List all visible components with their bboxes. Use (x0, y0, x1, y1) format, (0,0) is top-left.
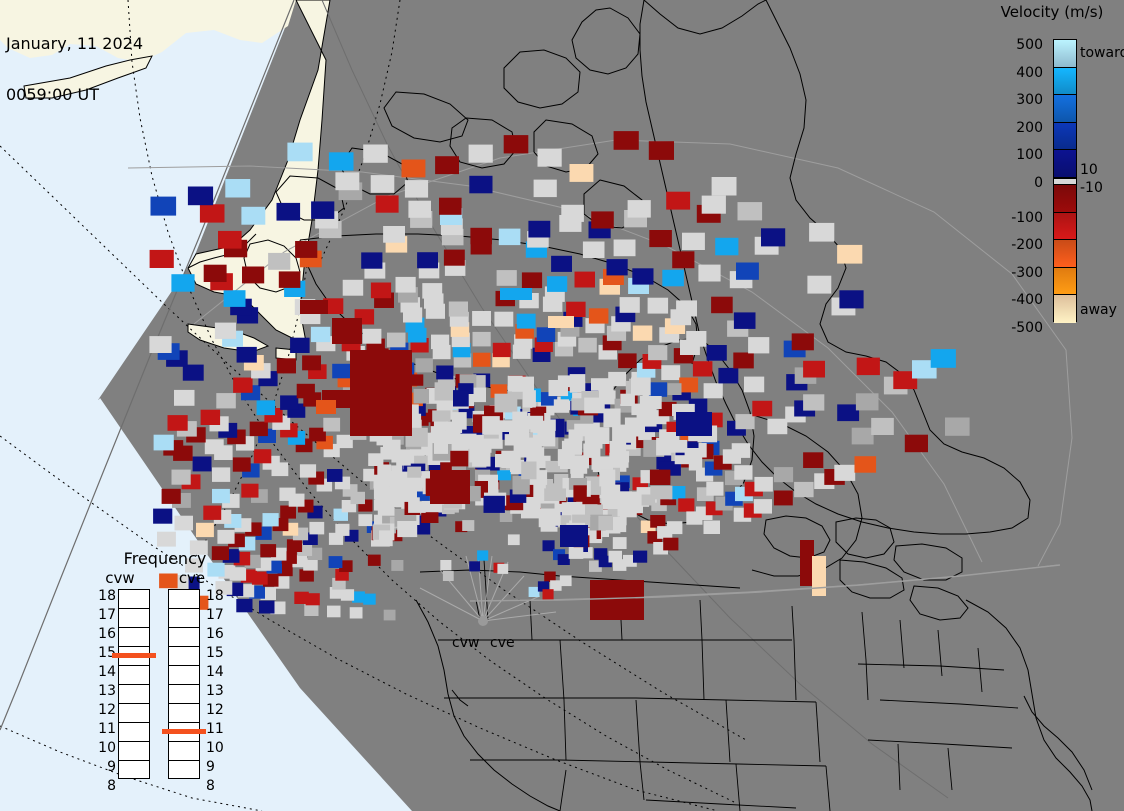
radar-cell[interactable] (504, 135, 529, 153)
frequency-tick-cve-9: 9 (206, 760, 215, 774)
radar-cell[interactable] (233, 378, 253, 393)
colorbar-band-5 (1054, 178, 1076, 185)
radar-cell[interactable] (543, 589, 554, 599)
radar-cell[interactable] (443, 571, 454, 581)
radar-cell[interactable] (323, 418, 340, 432)
radar-cell[interactable] (439, 198, 462, 215)
radar-cell[interactable] (734, 465, 752, 480)
radar-cell[interactable] (384, 610, 396, 621)
radar-cell[interactable] (526, 416, 543, 429)
colorbar-band-10 (1054, 295, 1076, 323)
radar-cell[interactable] (299, 569, 314, 581)
radar-cell[interactable] (837, 404, 859, 421)
radar-cell[interactable] (599, 470, 615, 487)
radar-cell[interactable] (614, 131, 639, 150)
radar-cell[interactable] (650, 470, 671, 485)
radar-cell[interactable] (363, 329, 382, 344)
radar-cell[interactable] (304, 604, 318, 616)
radar-cell[interactable] (455, 434, 477, 448)
radar-cell[interactable] (584, 398, 605, 414)
radar-cell[interactable] (744, 377, 764, 393)
radar-cell[interactable] (800, 540, 814, 586)
map-site-label-cvw: cvw (452, 636, 479, 650)
radar-cell[interactable] (752, 401, 772, 417)
radar-cell[interactable] (686, 331, 706, 347)
radar-cell[interactable] (225, 179, 250, 198)
radar-cell[interactable] (560, 525, 588, 547)
radar-cell[interactable] (377, 465, 391, 482)
radar-cell[interactable] (311, 327, 331, 342)
radar-site-dot[interactable] (478, 616, 488, 626)
radar-cell[interactable] (543, 540, 555, 551)
radar-cell[interactable] (363, 594, 376, 605)
radar-cell[interactable] (309, 522, 324, 535)
frequency-marker-cve[interactable] (162, 729, 206, 734)
frequency-cell (119, 666, 149, 685)
radar-cell[interactable] (205, 439, 224, 454)
radar-cell[interactable] (534, 180, 557, 198)
radar-cell[interactable] (754, 499, 772, 513)
radar-cell[interactable] (237, 347, 257, 363)
radar-cell[interactable] (327, 469, 343, 482)
radar-cell[interactable] (415, 358, 433, 372)
radar-cell[interactable] (578, 338, 597, 353)
radar-cell[interactable] (589, 308, 609, 323)
radar-cell[interactable] (300, 300, 328, 314)
radar-cell[interactable] (591, 378, 614, 391)
radar-cell[interactable] (294, 592, 309, 604)
radar-cell[interactable] (738, 202, 763, 220)
radar-cell[interactable] (473, 353, 491, 367)
radar-cell[interactable] (408, 201, 431, 218)
radar-cell[interactable] (668, 383, 682, 395)
colorbar-toward-label: toward (1080, 46, 1124, 60)
radar-cell[interactable] (618, 353, 637, 368)
radar-cell[interactable] (212, 489, 230, 503)
radar-cell[interactable] (643, 408, 656, 421)
radar-cell[interactable] (698, 265, 720, 282)
radar-cell[interactable] (522, 272, 542, 288)
radar-cell[interactable] (435, 382, 455, 400)
radar-cell[interactable] (803, 452, 823, 468)
radar-cell[interactable] (241, 207, 265, 225)
radar-cell[interactable] (473, 332, 491, 347)
radar-cell[interactable] (561, 205, 584, 222)
radar-cell[interactable] (332, 364, 350, 379)
radar-cell[interactable] (583, 242, 605, 259)
frequency-tick-cvw-16: 16 (98, 627, 116, 641)
colorbar-ground-scatter-lower: -10 (1080, 181, 1103, 195)
radar-cell[interactable] (945, 418, 970, 436)
radar-cell[interactable] (473, 388, 486, 403)
radar-cell[interactable] (259, 601, 275, 614)
radar-cell[interactable] (422, 283, 442, 299)
radar-cell[interactable] (693, 361, 713, 376)
radar-cell[interactable] (678, 498, 694, 511)
radar-cell[interactable] (183, 365, 204, 381)
radar-cell[interactable] (512, 377, 534, 392)
radar-cell[interactable] (431, 335, 449, 350)
radar-cell[interactable] (650, 515, 665, 528)
radar-cell[interactable] (432, 410, 450, 421)
radar-cell[interactable] (549, 380, 569, 396)
radar-cell[interactable] (162, 489, 181, 504)
frequency-tick-cve-12: 12 (206, 703, 224, 717)
colorbar-tick-300: 300 (1016, 93, 1043, 107)
radar-cell[interactable] (615, 451, 629, 462)
radar-cell[interactable] (539, 509, 556, 528)
radar-cell[interactable] (538, 149, 562, 167)
radar-cell[interactable] (371, 283, 391, 299)
radar-cell[interactable] (585, 505, 603, 516)
radar-cell[interactable] (287, 539, 302, 552)
radar-cell[interactable] (396, 449, 411, 465)
radar-cell[interactable] (662, 270, 684, 287)
radar-cell[interactable] (682, 233, 705, 250)
radar-cell[interactable] (290, 338, 310, 353)
radar-cell[interactable] (732, 443, 751, 458)
radar-cell[interactable] (712, 177, 737, 196)
radar-cell[interactable] (376, 195, 399, 212)
radar-cell[interactable] (436, 366, 453, 380)
radar-cell[interactable] (358, 514, 372, 526)
radar-cell[interactable] (434, 438, 448, 454)
radar-cell[interactable] (905, 435, 928, 453)
radar-cell[interactable] (676, 412, 712, 436)
radar-cell[interactable] (201, 410, 221, 425)
radar-cell[interactable] (462, 520, 474, 531)
radar-cell[interactable] (216, 393, 236, 408)
radar-cell[interactable] (452, 412, 467, 430)
radar-cell[interactable] (856, 393, 879, 410)
radar-cell[interactable] (215, 323, 236, 339)
radar-cell[interactable] (435, 156, 459, 174)
radar-cell[interactable] (855, 456, 877, 473)
radar-cell[interactable] (233, 457, 251, 471)
radar-cell[interactable] (702, 196, 726, 214)
radar-cell[interactable] (417, 252, 438, 268)
radar-cell[interactable] (620, 297, 640, 313)
radar-cell[interactable] (560, 575, 572, 586)
radar-cell[interactable] (470, 228, 492, 245)
radar-cell[interactable] (807, 276, 831, 294)
radar-cell[interactable] (672, 251, 694, 268)
frequency-bar-cvw[interactable] (118, 589, 150, 779)
radar-cell[interactable] (544, 488, 566, 501)
radar-cell[interactable] (707, 345, 727, 361)
radar-cell[interactable] (150, 250, 174, 268)
radar-cell[interactable] (632, 268, 653, 284)
radar-cell[interactable] (268, 253, 290, 270)
radar-cell[interactable] (453, 390, 469, 406)
radar-cell[interactable] (472, 451, 490, 467)
radar-cell[interactable] (931, 349, 956, 368)
radar-cell[interactable] (405, 180, 428, 198)
radar-cell[interactable] (335, 172, 359, 190)
frequency-cell (169, 761, 199, 780)
radar-cell[interactable] (397, 521, 417, 537)
radar-cell[interactable] (547, 276, 567, 292)
radar-cell[interactable] (523, 390, 536, 407)
radar-cell[interactable] (809, 223, 834, 242)
radar-cell[interactable] (469, 176, 492, 194)
radar-cell[interactable] (495, 394, 518, 413)
radar-cell[interactable] (679, 378, 698, 393)
radar-cell[interactable] (803, 394, 824, 410)
radar-cell[interactable] (852, 428, 874, 445)
radar-cell[interactable] (704, 521, 721, 535)
radar-cell[interactable] (570, 164, 594, 182)
radar-cell[interactable] (497, 564, 508, 574)
radar-cell[interactable] (175, 516, 194, 531)
radar-cell[interactable] (263, 513, 279, 526)
radar-cell[interactable] (837, 245, 862, 264)
radar-cell[interactable] (200, 204, 225, 222)
radar-cell[interactable] (774, 491, 793, 506)
radar-cell[interactable] (193, 457, 212, 472)
radar-cell[interactable] (603, 409, 620, 428)
radar-cell[interactable] (395, 482, 410, 498)
radar-cell[interactable] (196, 523, 214, 537)
radar-cell[interactable] (407, 467, 421, 478)
radar-cell[interactable] (499, 229, 521, 246)
radar-cell[interactable] (735, 414, 754, 429)
radar-cell[interactable] (794, 482, 814, 497)
radar-cell[interactable] (583, 444, 600, 458)
frequency-cell (169, 609, 199, 628)
radar-cell[interactable] (277, 203, 301, 221)
radar-cell[interactable] (612, 425, 633, 441)
radar-cell[interactable] (332, 318, 362, 344)
radar-cell[interactable] (396, 277, 416, 293)
radar-cell[interactable] (218, 231, 242, 249)
radar-cell[interactable] (590, 580, 644, 620)
radar-cell[interactable] (335, 524, 349, 536)
radar-cell[interactable] (812, 556, 826, 596)
radar-cell[interactable] (363, 145, 388, 163)
radar-cell[interactable] (628, 200, 651, 218)
radar-cell[interactable] (566, 302, 586, 317)
radar-cell[interactable] (469, 561, 480, 571)
radar-cell[interactable] (477, 550, 488, 560)
radar-cell[interactable] (204, 265, 227, 282)
radar-cell[interactable] (661, 365, 680, 380)
radar-cell[interactable] (402, 160, 426, 178)
radar-cell[interactable] (521, 462, 536, 480)
radar-cell[interactable] (570, 374, 586, 393)
radar-cell[interactable] (649, 141, 674, 160)
radar-cell[interactable] (368, 555, 381, 566)
radar-cell[interactable] (633, 326, 653, 341)
frequency-bar-cve[interactable] (168, 589, 200, 779)
radar-cell[interactable] (277, 358, 296, 373)
radar-cell[interactable] (803, 361, 825, 378)
radar-cell[interactable] (327, 606, 341, 618)
colorbar-gradient[interactable] (1053, 39, 1077, 322)
radar-cell[interactable] (548, 316, 574, 328)
radar-cell[interactable] (295, 241, 317, 258)
radar-cell[interactable] (666, 192, 690, 210)
frequency-tick-cvw-13: 13 (98, 684, 116, 698)
radar-cell[interactable] (537, 430, 555, 446)
frequency-tick-cvw-8: 8 (107, 779, 116, 793)
radar-cell[interactable] (449, 302, 468, 317)
radar-cell[interactable] (614, 240, 636, 257)
radar-cell[interactable] (500, 288, 532, 300)
radar-cell[interactable] (754, 477, 773, 492)
radar-cell[interactable] (497, 270, 517, 286)
radar-cell[interactable] (329, 152, 354, 170)
radar-cell[interactable] (558, 554, 570, 565)
radar-cell[interactable] (224, 290, 246, 307)
radar-cell[interactable] (279, 488, 295, 501)
radar-cell[interactable] (493, 343, 511, 357)
radar-cell[interactable] (482, 416, 500, 435)
radar-cell[interactable] (494, 312, 513, 327)
radar-cell[interactable] (601, 485, 620, 497)
radar-cell[interactable] (153, 509, 172, 524)
frequency-marker-cvw[interactable] (112, 653, 156, 658)
radar-cell[interactable] (736, 263, 759, 280)
radar-cell[interactable] (343, 280, 364, 296)
radar-cell[interactable] (154, 435, 174, 451)
radar-cell[interactable] (250, 422, 268, 437)
radar-cell[interactable] (242, 267, 264, 284)
radar-cell[interactable] (642, 495, 656, 506)
radar-cell[interactable] (663, 538, 678, 551)
radar-cell[interactable] (302, 355, 321, 370)
radar-cell[interactable] (633, 551, 647, 563)
colorbar-band-7 (1054, 213, 1076, 241)
radar-cell[interactable] (254, 449, 271, 463)
radar-cell[interactable] (649, 382, 667, 397)
radar-cell[interactable] (598, 516, 613, 530)
radar-cell[interactable] (297, 384, 315, 399)
radar-cell[interactable] (316, 400, 336, 414)
radar-cell[interactable] (300, 464, 316, 477)
radar-cell[interactable] (151, 197, 177, 216)
radar-cell[interactable] (287, 143, 312, 162)
radar-cell[interactable] (241, 484, 258, 498)
radar-cell[interactable] (711, 297, 733, 314)
radar-cell[interactable] (311, 201, 334, 219)
frequency-cell (119, 590, 149, 609)
radar-cell[interactable] (569, 430, 583, 442)
radar-cell[interactable] (591, 211, 614, 228)
radar-cell[interactable] (704, 383, 723, 398)
colorbar-tick--100: -100 (1011, 211, 1043, 225)
radar-cell[interactable] (748, 337, 769, 353)
radar-cell[interactable] (648, 298, 669, 314)
radar-cell[interactable] (528, 221, 550, 238)
radar-cell[interactable] (676, 300, 697, 316)
radar-cell[interactable] (839, 290, 863, 308)
radar-cell[interactable] (440, 560, 451, 570)
radar-cell[interactable] (733, 353, 754, 369)
radar-cell[interactable] (212, 467, 230, 482)
radar-cell[interactable] (383, 226, 405, 243)
radar-cell[interactable] (391, 560, 403, 571)
radar-cell[interactable] (495, 454, 510, 467)
radar-cell[interactable] (649, 230, 672, 247)
radar-cell[interactable] (706, 482, 723, 496)
radar-cell[interactable] (508, 534, 520, 545)
radar-cell[interactable] (834, 465, 855, 481)
radar-cell[interactable] (551, 256, 572, 272)
radar-cell[interactable] (871, 418, 894, 435)
radar-cell[interactable] (607, 259, 628, 275)
radar-cell[interactable] (149, 336, 171, 353)
radar-cell[interactable] (734, 312, 756, 329)
radar-cell[interactable] (472, 311, 491, 326)
radar-cell[interactable] (280, 395, 298, 410)
radar-cell[interactable] (350, 607, 363, 618)
radar-cell[interactable] (620, 506, 637, 518)
radar-cell[interactable] (484, 496, 505, 513)
radar-cell[interactable] (469, 145, 493, 163)
radar-cell[interactable] (444, 250, 465, 266)
radar-cell[interactable] (168, 415, 188, 431)
radar-cell[interactable] (329, 556, 343, 568)
radar-cell[interactable] (529, 587, 540, 597)
radar-cell[interactable] (517, 314, 536, 329)
radar-cell[interactable] (361, 252, 382, 268)
radar-cell[interactable] (174, 390, 195, 406)
radar-cell[interactable] (260, 544, 276, 557)
radar-cell[interactable] (715, 238, 738, 256)
colorbar-ground-scatter-upper: 10 (1080, 163, 1098, 177)
frequency-cell (119, 685, 149, 704)
radar-cell[interactable] (648, 345, 667, 360)
radar-cell[interactable] (408, 501, 426, 513)
radar-cell[interactable] (631, 378, 651, 396)
radar-cell[interactable] (774, 467, 793, 482)
radar-cell[interactable] (573, 485, 586, 502)
radar-cell[interactable] (171, 274, 194, 292)
radar-cell[interactable] (379, 530, 393, 546)
radar-cell[interactable] (767, 419, 787, 435)
radar-cell[interactable] (623, 492, 641, 504)
radar-cell[interactable] (257, 400, 276, 415)
radar-cell[interactable] (203, 506, 221, 520)
radar-cell[interactable] (857, 358, 880, 376)
frequency-cell (169, 628, 199, 647)
radar-cell[interactable] (516, 431, 529, 444)
radar-cell[interactable] (792, 333, 814, 350)
frequency-tick-cve-16: 16 (206, 627, 224, 641)
radar-cell[interactable] (669, 440, 687, 453)
radar-cell[interactable] (279, 271, 301, 288)
radar-cell[interactable] (414, 389, 430, 404)
radar-cell[interactable] (280, 506, 296, 519)
radar-cell[interactable] (371, 175, 395, 193)
colorbar-tick-400: 400 (1016, 66, 1043, 80)
frequency-tick-cve-14: 14 (206, 665, 224, 679)
radar-cell[interactable] (387, 333, 406, 348)
frequency-column-label-cve: cve (162, 569, 222, 587)
radar-cell[interactable] (217, 530, 234, 544)
radar-cell[interactable] (613, 537, 627, 549)
radar-cell[interactable] (537, 327, 556, 342)
radar-cell[interactable] (667, 521, 683, 534)
radar-cell[interactable] (575, 272, 596, 288)
radar-cell[interactable] (430, 470, 470, 504)
radar-cell[interactable] (761, 228, 785, 246)
radar-cell[interactable] (554, 399, 569, 413)
radar-cell[interactable] (188, 187, 213, 206)
radar-cell[interactable] (718, 368, 738, 384)
radar-cell[interactable] (172, 470, 191, 485)
